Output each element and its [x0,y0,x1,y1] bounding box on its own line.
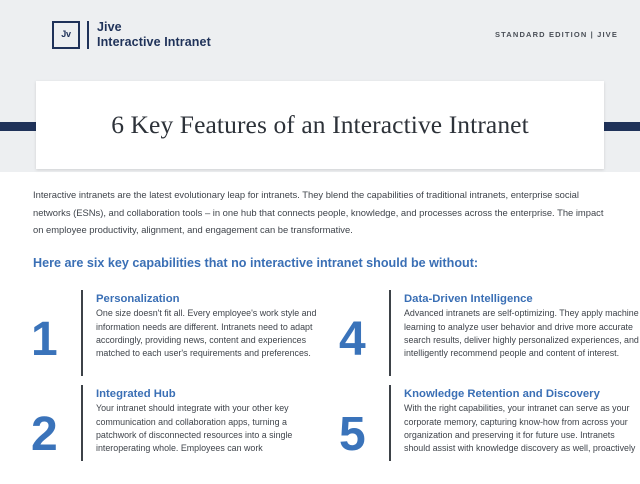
page-title: 6 Key Features of an Interactive Intrane… [111,110,529,140]
feature-number: 4 [339,290,389,364]
brand-divider [87,21,89,49]
feature-title: Data-Driven Intelligence [404,292,640,306]
feature-divider [81,290,83,376]
feature-item-2: 2 Integrated Hub Your intranet should in… [0,385,320,461]
document-page: Jv Jive Interactive Intranet STANDARD ED… [0,0,640,484]
section-kicker: Here are six key capabilities that no in… [33,256,478,270]
feature-item-1: 1 Personalization One size doesn't fit a… [0,290,320,376]
feature-number: 1 [31,290,81,364]
feature-item-4: 4 Data-Driven Intelligence Advanced intr… [320,290,640,376]
features-row-1: 1 Personalization One size doesn't fit a… [0,290,640,376]
feature-body: With the right capabilities, your intran… [404,402,640,456]
brand-logo: Jv Jive Interactive Intranet [52,20,211,50]
feature-divider [389,385,391,461]
feature-item-5: 5 Knowledge Retention and Discovery With… [320,385,640,461]
feature-title: Knowledge Retention and Discovery [404,387,640,401]
feature-body: One size doesn't fit all. Every employee… [96,307,320,361]
feature-body: Advanced intranets are self-optimizing. … [404,307,640,361]
feature-divider [389,290,391,376]
feature-text: Knowledge Retention and Discovery With t… [404,385,640,456]
title-card: 6 Key Features of an Interactive Intrane… [36,81,604,169]
feature-number: 5 [339,385,389,459]
feature-number: 2 [31,385,81,459]
features-grid: 1 Personalization One size doesn't fit a… [0,290,640,461]
feature-text: Personalization One size doesn't fit all… [96,290,320,361]
feature-title: Personalization [96,292,320,306]
feature-text: Integrated Hub Your intranet should inte… [96,385,320,456]
jive-logo-icon: Jv [52,21,80,49]
edition-label: STANDARD EDITION | JIVE [495,30,618,39]
brand-name-line1: Jive [97,20,211,35]
feature-text: Data-Driven Intelligence Advanced intran… [404,290,640,361]
jive-logo-mark-text: Jv [61,30,71,39]
brand-wordmark: Jive Interactive Intranet [97,20,211,50]
feature-body: Your intranet should integrate with your… [96,402,320,456]
features-row-2: 2 Integrated Hub Your intranet should in… [0,385,640,461]
feature-divider [81,385,83,461]
feature-title: Integrated Hub [96,387,320,401]
intro-paragraph: Interactive intranets are the latest evo… [33,186,611,239]
brand-name-line2: Interactive Intranet [97,35,211,50]
